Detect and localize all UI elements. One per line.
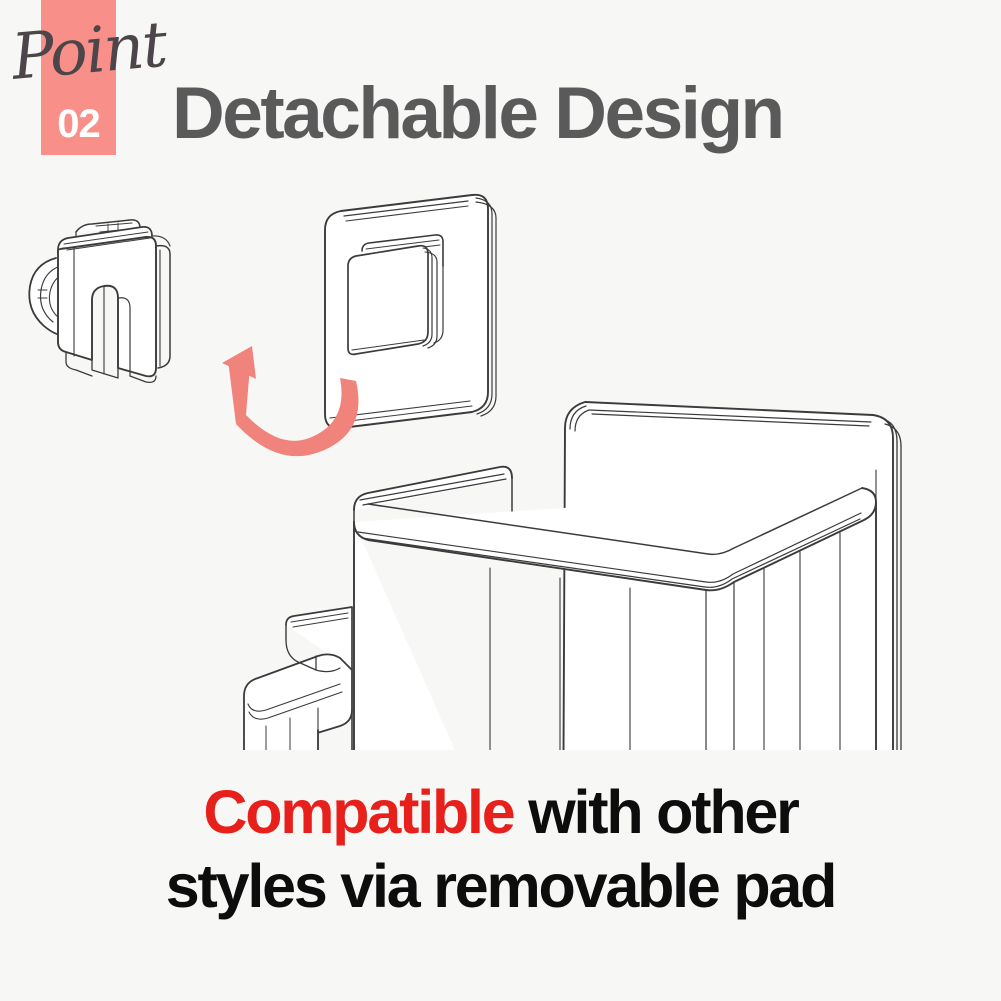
side-cup-part bbox=[244, 607, 352, 750]
caption-line-1: Compatible with other bbox=[0, 775, 1001, 849]
caption-block: Compatible with other styles via removab… bbox=[0, 775, 1001, 923]
product-exploded-illustration bbox=[0, 170, 1001, 750]
page-title: Detachable Design bbox=[172, 72, 783, 156]
infographic-canvas: Point 02 Detachable Design bbox=[0, 0, 1001, 1001]
point-badge-number: 02 bbox=[41, 98, 116, 150]
detachable-clip-part bbox=[29, 220, 170, 383]
caption-line-2: styles via removable pad bbox=[0, 849, 1001, 923]
caption-accent-word: Compatible bbox=[203, 778, 513, 846]
caption-line-1-rest: with other bbox=[513, 778, 797, 846]
